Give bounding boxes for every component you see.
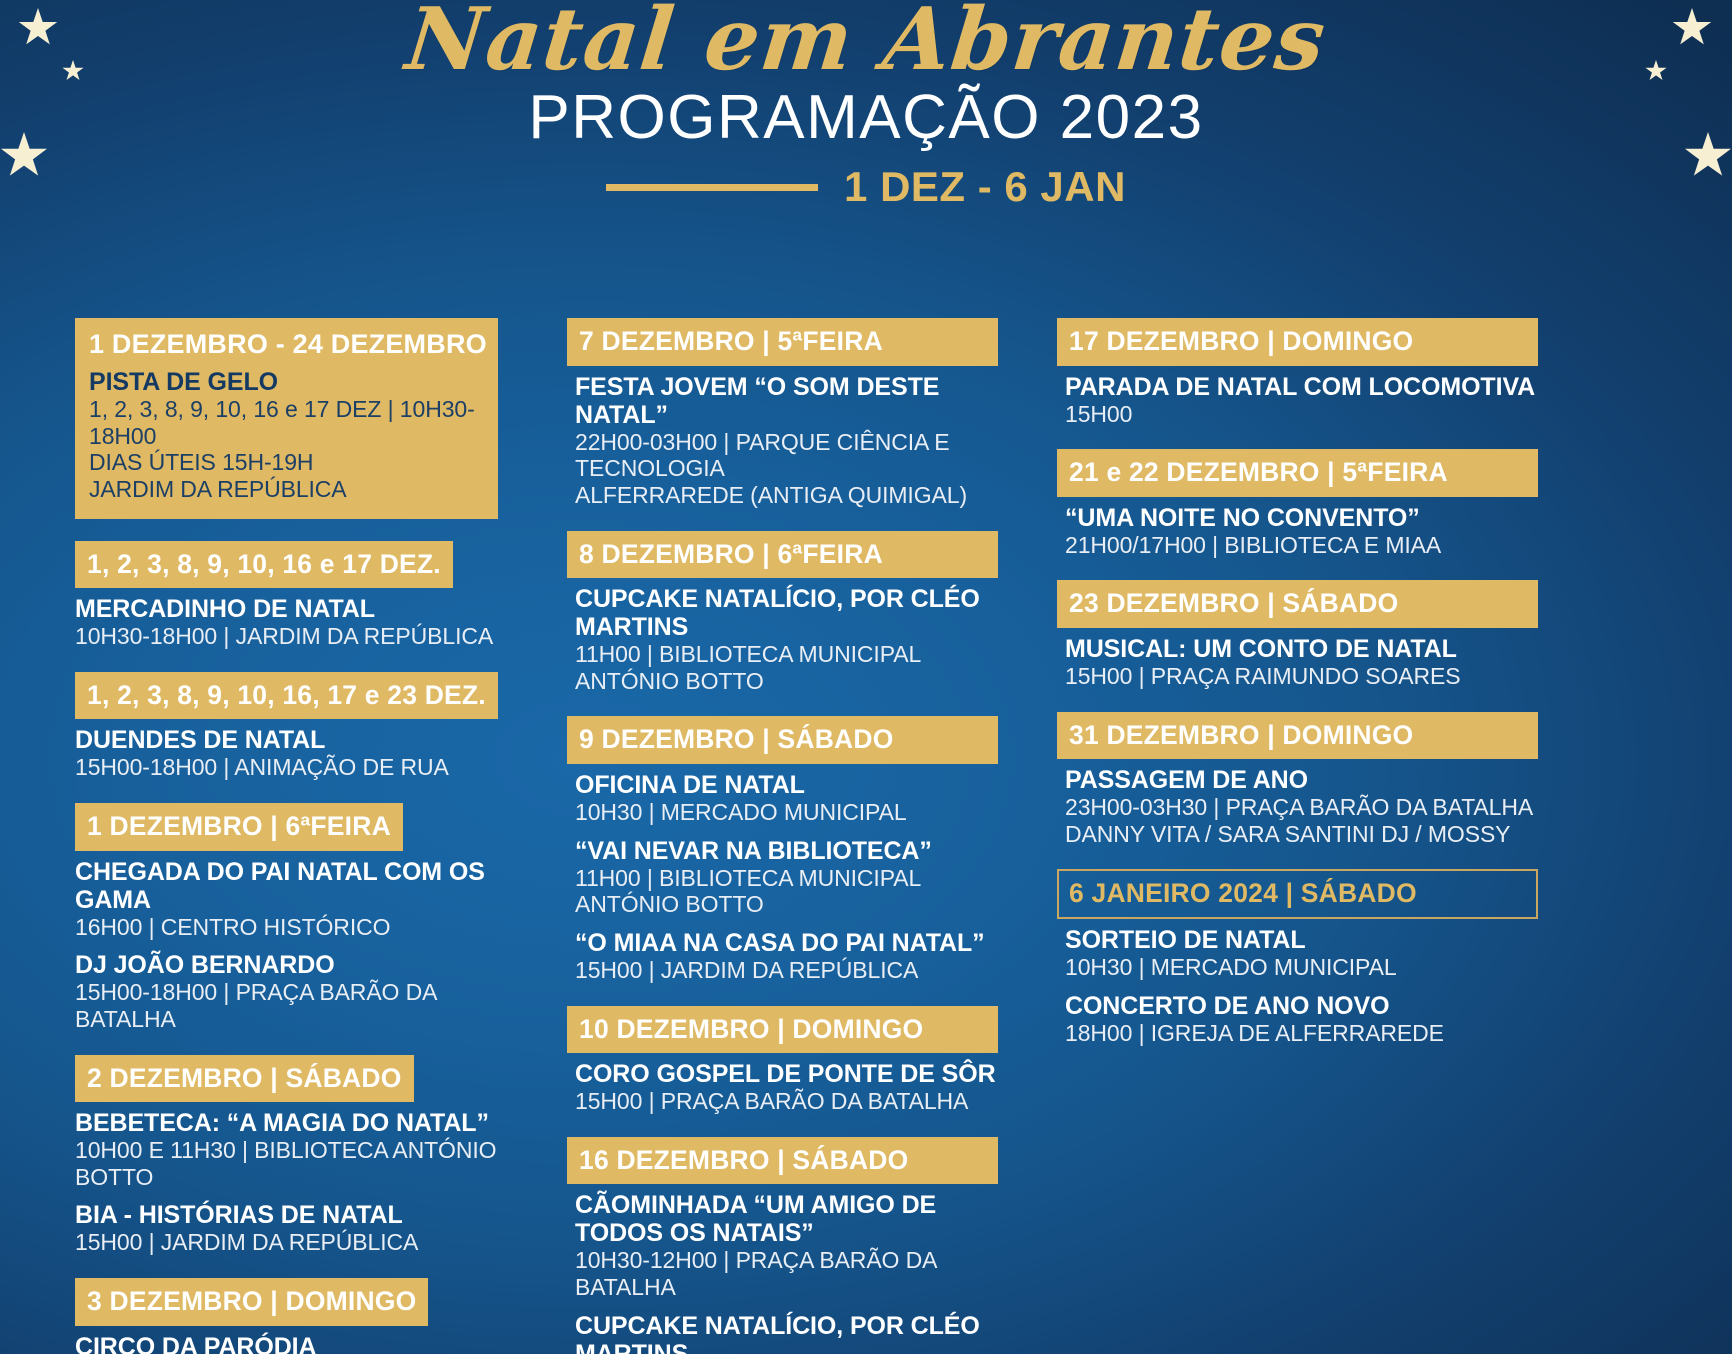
program-event: MERCADINHO DE NATAL10H30-18H00 | JARDIM … — [75, 595, 498, 650]
program-event: CORO GOSPEL DE PONTE DE SÔR15H00 | PRAÇA… — [575, 1060, 998, 1115]
program-event-detail: 15H00-18H00 | ANIMAÇÃO DE RUA — [75, 754, 498, 781]
program-event-list: MUSICAL: UM CONTO DE NATAL15H00 | PRAÇA … — [1057, 628, 1538, 690]
program-event-detail: 10H30 | MERCADO MUNICIPAL — [1065, 954, 1538, 981]
poster-subtitle: PROGRAMAÇÃO 2023 — [0, 87, 1732, 149]
program-date-header: 6 JANEIRO 2024 | SÁBADO — [1057, 869, 1538, 919]
program-event-detail: 15H00 | PRAÇA RAIMUNDO SOARES — [1065, 663, 1538, 690]
program-event-title: PASSAGEM DE ANO — [1065, 766, 1538, 794]
program-event: CHEGADA DO PAI NATAL COM OS GAMA16H00 | … — [75, 858, 498, 941]
program-event-list: PISTA DE GELO1, 2, 3, 8, 9, 10, 16 e 17 … — [89, 368, 484, 503]
program-event-title: BIA - HISTÓRIAS DE NATAL — [75, 1201, 498, 1229]
program-event-title: “O MIAA NA CASA DO PAI NATAL” — [575, 929, 998, 957]
program-block: 21 e 22 DEZEMBRO | 5ªFEIRA“UMA NOITE NO … — [1057, 449, 1538, 558]
program-event: MUSICAL: UM CONTO DE NATAL15H00 | PRAÇA … — [1065, 635, 1538, 690]
program-event-detail: 15H00 | JARDIM DA REPÚBLICA — [75, 1229, 498, 1256]
program-event-title: OFICINA DE NATAL — [575, 771, 998, 799]
program-block: 3 DEZEMBRO | DOMINGOCIRCO DA PARÓDIA15H0… — [75, 1278, 498, 1354]
program-event: FESTA JOVEM “O SOM DESTE NATAL”22H00-03H… — [575, 373, 998, 509]
program-date-header: 8 DEZEMBRO | 6ªFEIRA — [567, 531, 998, 579]
program-event-list: PARADA DE NATAL COM LOCOMOTIVA15H00 — [1057, 366, 1538, 428]
program-block: 8 DEZEMBRO | 6ªFEIRACUPCAKE NATALÍCIO, P… — [567, 531, 998, 695]
program-event: SORTEIO DE NATAL10H30 | MERCADO MUNICIPA… — [1065, 926, 1538, 981]
program-event-detail: 15H00 | JARDIM DA REPÚBLICA — [575, 957, 998, 984]
program-event-title: “VAI NEVAR NA BIBLIOTECA” — [575, 837, 998, 865]
program-event: PASSAGEM DE ANO23H00-03H30 | PRAÇA BARÃO… — [1065, 766, 1538, 847]
program-block: 7 DEZEMBRO | 5ªFEIRAFESTA JOVEM “O SOM D… — [567, 318, 998, 509]
program-date-header: 23 DEZEMBRO | SÁBADO — [1057, 580, 1538, 628]
program-event-detail: ALFERRAREDE (ANTIGA QUIMIGAL) — [575, 482, 998, 509]
program-event-list: CORO GOSPEL DE PONTE DE SÔR15H00 | PRAÇA… — [567, 1053, 998, 1115]
program-date-header: 2 DEZEMBRO | SÁBADO — [75, 1055, 414, 1103]
program-columns: 1 DEZEMBRO - 24 DEZEMBROPISTA DE GELO1, … — [0, 318, 1732, 1354]
program-event-list: DUENDES DE NATAL15H00-18H00 | ANIMAÇÃO D… — [75, 719, 498, 781]
column-right: 17 DEZEMBRO | DOMINGOPARADA DE NATAL COM… — [998, 318, 1538, 1354]
program-event-detail: 21H00/17H00 | BIBLIOTECA E MIAA — [1065, 532, 1538, 559]
column-left: 1 DEZEMBRO - 24 DEZEMBROPISTA DE GELO1, … — [0, 318, 498, 1354]
program-event: PISTA DE GELO1, 2, 3, 8, 9, 10, 16 e 17 … — [89, 368, 484, 503]
program-event-list: PASSAGEM DE ANO23H00-03H30 | PRAÇA BARÃO… — [1057, 759, 1538, 847]
program-event-detail: 15H00 — [1065, 401, 1538, 428]
program-event-detail: 10H30-12H00 | PRAÇA BARÃO DA BATALHA — [575, 1247, 998, 1300]
program-event: CONCERTO DE ANO NOVO18H00 | IGREJA DE AL… — [1065, 992, 1538, 1047]
program-event: OFICINA DE NATAL10H30 | MERCADO MUNICIPA… — [575, 771, 998, 826]
program-event: DUENDES DE NATAL15H00-18H00 | ANIMAÇÃO D… — [75, 726, 498, 781]
program-event-detail: 11H00 | BIBLIOTECA MUNICIPAL ANTÓNIO BOT… — [575, 865, 998, 918]
program-event-title: DUENDES DE NATAL — [75, 726, 498, 754]
program-event-detail: 10H30-18H00 | JARDIM DA REPÚBLICA — [75, 623, 498, 650]
program-event: PARADA DE NATAL COM LOCOMOTIVA15H00 — [1065, 373, 1538, 428]
program-event-list: BEBETECA: “A MAGIA DO NATAL”10H00 E 11H3… — [75, 1102, 498, 1256]
program-event-detail: 11H00 | BIBLIOTECA MUNICIPAL ANTÓNIO BOT… — [575, 641, 998, 694]
program-block: 1 DEZEMBRO - 24 DEZEMBROPISTA DE GELO1, … — [75, 318, 498, 519]
program-event: “UMA NOITE NO CONVENTO”21H00/17H00 | BIB… — [1065, 504, 1538, 559]
poster-date-range-row: 1 DEZ - 6 JAN — [0, 163, 1732, 211]
program-event-detail: JARDIM DA REPÚBLICA — [89, 476, 484, 503]
column-middle: 7 DEZEMBRO | 5ªFEIRAFESTA JOVEM “O SOM D… — [498, 318, 998, 1354]
program-event-title: CÃOMINHADA “UM AMIGO DE TODOS OS NATAIS” — [575, 1191, 998, 1247]
program-event-title: CIRCO DA PARÓDIA — [75, 1333, 498, 1354]
program-event-list: CUPCAKE NATALÍCIO, POR CLÉO MARTINS11H00… — [567, 578, 998, 694]
program-event: CUPCAKE NATALÍCIO, POR CLÉO MARTINS11H00… — [575, 1312, 998, 1354]
program-event-detail: 1, 2, 3, 8, 9, 10, 16 e 17 DEZ | 10H30-1… — [89, 396, 484, 449]
program-event-title: “UMA NOITE NO CONVENTO” — [1065, 504, 1538, 532]
program-block: 17 DEZEMBRO | DOMINGOPARADA DE NATAL COM… — [1057, 318, 1538, 427]
program-event-detail: 15H00 | PRAÇA BARÃO DA BATALHA — [575, 1088, 998, 1115]
program-event-title: CUPCAKE NATALÍCIO, POR CLÉO MARTINS — [575, 1312, 998, 1354]
program-event-title: MUSICAL: UM CONTO DE NATAL — [1065, 635, 1538, 663]
program-event: BEBETECA: “A MAGIA DO NATAL”10H00 E 11H3… — [75, 1109, 498, 1190]
program-event-title: CUPCAKE NATALÍCIO, POR CLÉO MARTINS — [575, 585, 998, 641]
program-event: CIRCO DA PARÓDIA15H00 | PRAÇA BARÃO DA B… — [75, 1333, 498, 1354]
program-event: CÃOMINHADA “UM AMIGO DE TODOS OS NATAIS”… — [575, 1191, 998, 1300]
program-block: 10 DEZEMBRO | DOMINGOCORO GOSPEL DE PONT… — [567, 1006, 998, 1115]
program-date-header: 16 DEZEMBRO | SÁBADO — [567, 1137, 998, 1185]
program-event: “VAI NEVAR NA BIBLIOTECA”11H00 | BIBLIOT… — [575, 837, 998, 918]
christmas-program-poster: Natal em Abrantes PROGRAMAÇÃO 2023 1 DEZ… — [0, 0, 1732, 1354]
program-date-header: 10 DEZEMBRO | DOMINGO — [567, 1006, 998, 1054]
program-date-header: 21 e 22 DEZEMBRO | 5ªFEIRA — [1057, 449, 1538, 497]
program-event-detail: 15H00-18H00 | PRAÇA BARÃO DA BATALHA — [75, 979, 498, 1032]
program-event-title: CORO GOSPEL DE PONTE DE SÔR — [575, 1060, 998, 1088]
program-date-header: 9 DEZEMBRO | SÁBADO — [567, 716, 998, 764]
poster-date-range: 1 DEZ - 6 JAN — [844, 163, 1126, 211]
program-date-header: 17 DEZEMBRO | DOMINGO — [1057, 318, 1538, 366]
program-event-detail: 16H00 | CENTRO HISTÓRICO — [75, 914, 498, 941]
program-date-header: 31 DEZEMBRO | DOMINGO — [1057, 712, 1538, 760]
program-event-list: CHEGADA DO PAI NATAL COM OS GAMA16H00 | … — [75, 851, 498, 1033]
program-event: CUPCAKE NATALÍCIO, POR CLÉO MARTINS11H00… — [575, 585, 998, 694]
program-event-detail: 22H00-03H00 | PARQUE CIÊNCIA E TECNOLOGI… — [575, 429, 998, 482]
program-event-detail: DIAS ÚTEIS 15H-19H — [89, 449, 484, 476]
program-event: BIA - HISTÓRIAS DE NATAL15H00 | JARDIM D… — [75, 1201, 498, 1256]
program-block: 23 DEZEMBRO | SÁBADOMUSICAL: UM CONTO DE… — [1057, 580, 1538, 689]
program-event-title: PISTA DE GELO — [89, 368, 484, 396]
program-event-detail: 23H00-03H30 | PRAÇA BARÃO DA BATALHA — [1065, 794, 1538, 821]
program-event-list: CÃOMINHADA “UM AMIGO DE TODOS OS NATAIS”… — [567, 1184, 998, 1354]
program-event-title: CONCERTO DE ANO NOVO — [1065, 992, 1538, 1020]
gold-rule-divider — [606, 184, 818, 191]
program-event-list: MERCADINHO DE NATAL10H30-18H00 | JARDIM … — [75, 588, 498, 650]
program-block: 31 DEZEMBRO | DOMINGOPASSAGEM DE ANO23H0… — [1057, 712, 1538, 848]
program-event-list: FESTA JOVEM “O SOM DESTE NATAL”22H00-03H… — [567, 366, 998, 509]
program-event-detail: 18H00 | IGREJA DE ALFERRAREDE — [1065, 1020, 1538, 1047]
program-block: 1 DEZEMBRO | 6ªFEIRACHEGADA DO PAI NATAL… — [75, 803, 498, 1033]
program-event: DJ JOÃO BERNARDO15H00-18H00 | PRAÇA BARÃ… — [75, 951, 498, 1032]
program-block: 1, 2, 3, 8, 9, 10, 16 e 17 DEZ.MERCADINH… — [75, 541, 498, 650]
program-event-title: SORTEIO DE NATAL — [1065, 926, 1538, 954]
program-event-title: PARADA DE NATAL COM LOCOMOTIVA — [1065, 373, 1538, 401]
program-block: 1, 2, 3, 8, 9, 10, 16, 17 e 23 DEZ.DUEND… — [75, 672, 498, 781]
program-event-title: FESTA JOVEM “O SOM DESTE NATAL” — [575, 373, 998, 429]
program-event-title: DJ JOÃO BERNARDO — [75, 951, 498, 979]
program-date-header: 3 DEZEMBRO | DOMINGO — [75, 1278, 428, 1326]
program-event-title: CHEGADA DO PAI NATAL COM OS GAMA — [75, 858, 498, 914]
program-date-header: 7 DEZEMBRO | 5ªFEIRA — [567, 318, 998, 366]
program-event-list: “UMA NOITE NO CONVENTO”21H00/17H00 | BIB… — [1057, 497, 1538, 559]
program-event-title: MERCADINHO DE NATAL — [75, 595, 498, 623]
program-date-header: 1 DEZEMBRO - 24 DEZEMBRO — [89, 331, 487, 368]
program-block: 2 DEZEMBRO | SÁBADOBEBETECA: “A MAGIA DO… — [75, 1055, 498, 1257]
program-event-title: BEBETECA: “A MAGIA DO NATAL” — [75, 1109, 498, 1137]
program-block: 16 DEZEMBRO | SÁBADOCÃOMINHADA “UM AMIGO… — [567, 1137, 998, 1354]
program-block: 9 DEZEMBRO | SÁBADOOFICINA DE NATAL10H30… — [567, 716, 998, 983]
program-block: 6 JANEIRO 2024 | SÁBADOSORTEIO DE NATAL1… — [1057, 869, 1538, 1046]
program-event-detail: 10H30 | MERCADO MUNICIPAL — [575, 799, 998, 826]
program-event-list: CIRCO DA PARÓDIA15H00 | PRAÇA BARÃO DA B… — [75, 1326, 498, 1354]
program-event-detail: DANNY VITA / SARA SANTINI DJ / MOSSY — [1065, 821, 1538, 848]
poster-header: Natal em Abrantes PROGRAMAÇÃO 2023 1 DEZ… — [0, 0, 1732, 211]
poster-title-script: Natal em Abrantes — [0, 0, 1732, 79]
program-event-list: SORTEIO DE NATAL10H30 | MERCADO MUNICIPA… — [1057, 919, 1538, 1046]
program-date-header: 1, 2, 3, 8, 9, 10, 16 e 17 DEZ. — [75, 541, 453, 589]
program-date-header: 1, 2, 3, 8, 9, 10, 16, 17 e 23 DEZ. — [75, 672, 498, 720]
program-event-list: OFICINA DE NATAL10H30 | MERCADO MUNICIPA… — [567, 764, 998, 984]
program-event-detail: 10H00 E 11H30 | BIBLIOTECA ANTÓNIO BOTTO — [75, 1137, 498, 1190]
program-event: “O MIAA NA CASA DO PAI NATAL”15H00 | JAR… — [575, 929, 998, 984]
program-date-header: 1 DEZEMBRO | 6ªFEIRA — [75, 803, 403, 851]
